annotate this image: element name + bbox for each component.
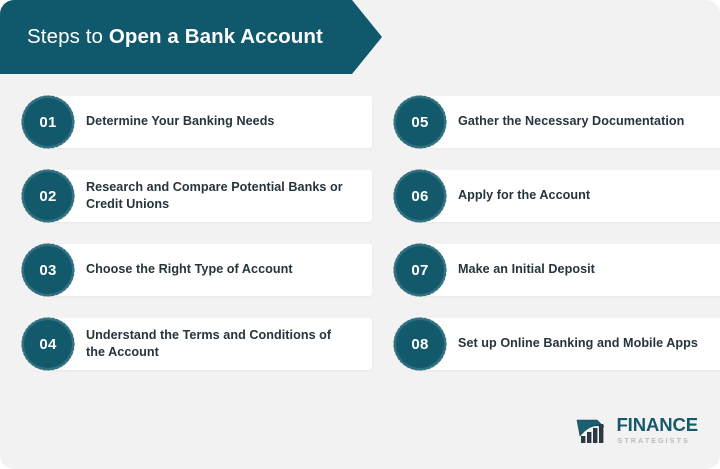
badge-disc: 05 [396,98,444,146]
step-badge-05: 05 [396,98,444,146]
badge-disc: 02 [24,172,72,220]
step-label: Understand the Terms and Conditions of t… [86,327,344,362]
step-item-06[interactable]: 06 Apply for the Account [396,170,720,222]
step-item-01[interactable]: 01 Determine Your Banking Needs [24,96,372,148]
step-badge-02: 02 [24,172,72,220]
step-number: 08 [411,337,428,352]
step-badge-06: 06 [396,172,444,220]
page-title-prefix: Steps to [27,25,109,48]
badge-disc: 07 [396,246,444,294]
step-label: Research and Compare Potential Banks or … [86,179,344,214]
page-title-strong: Open a Bank Account [109,25,323,48]
step-badge-03: 03 [24,246,72,294]
logo-subtitle: STRATEGISTS [617,437,698,444]
steps-grid: 01 Determine Your Banking Needs 05 Gathe… [0,96,720,370]
step-label: Make an Initial Deposit [458,261,716,278]
badge-disc: 04 [24,320,72,368]
badge-disc: 08 [396,320,444,368]
step-number: 06 [411,189,428,204]
badge-disc: 03 [24,246,72,294]
step-item-05[interactable]: 05 Gather the Necessary Documentation [396,96,720,148]
badge-disc: 01 [24,98,72,146]
step-item-07[interactable]: 07 Make an Initial Deposit [396,244,720,296]
infographic-canvas: Steps to Open a Bank Account 01 Determin… [0,0,720,469]
finance-strategists-chart-icon [575,415,611,445]
step-badge-07: 07 [396,246,444,294]
step-label: Set up Online Banking and Mobile Apps [458,335,716,352]
step-number: 03 [39,263,56,278]
logo-text-block: FINANCE STRATEGISTS [616,416,698,444]
step-badge-01: 01 [24,98,72,146]
step-label: Apply for the Account [458,187,716,204]
brand-logo: FINANCE STRATEGISTS [575,415,698,445]
step-item-02[interactable]: 02 Research and Compare Potential Banks … [24,170,372,222]
step-number: 01 [39,115,56,130]
step-label: Choose the Right Type of Account [86,261,344,278]
step-number: 02 [39,189,56,204]
step-label: Gather the Necessary Documentation [458,113,716,130]
step-item-08[interactable]: 08 Set up Online Banking and Mobile Apps [396,318,720,370]
step-badge-04: 04 [24,320,72,368]
badge-disc: 06 [396,172,444,220]
step-badge-08: 08 [396,320,444,368]
step-number: 07 [411,263,428,278]
step-label: Determine Your Banking Needs [86,113,344,130]
logo-name: FINANCE [616,416,698,435]
step-item-03[interactable]: 03 Choose the Right Type of Account [24,244,372,296]
header-banner: Steps to Open a Bank Account [0,0,382,74]
step-number: 04 [39,337,56,352]
page-title: Steps to Open a Bank Account [0,26,363,49]
step-number: 05 [411,115,428,130]
step-item-04[interactable]: 04 Understand the Terms and Conditions o… [24,318,372,370]
